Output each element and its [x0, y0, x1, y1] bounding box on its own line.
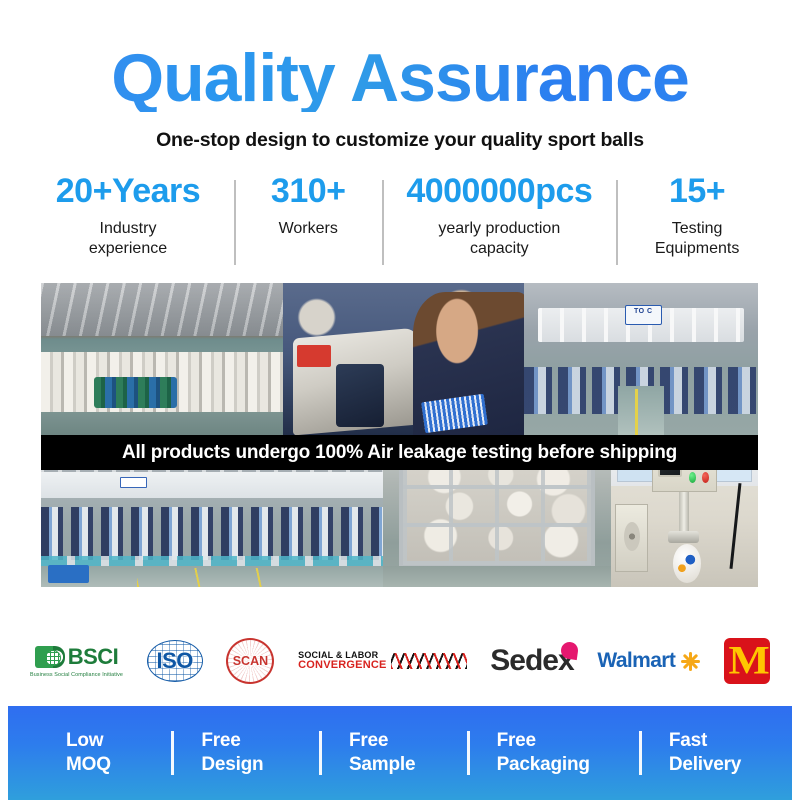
stat-item-years: 20+Years Industryexperience [22, 172, 234, 258]
feature-bar: Low MOQ Free Design Free Sample Free Pac… [8, 706, 792, 800]
stat-number: 4000000pcs [386, 172, 612, 211]
press-plate-art [668, 531, 699, 543]
workshop-sign [120, 477, 147, 487]
stat-item-workers: 310+ Workers [234, 172, 382, 239]
photo-sewing-machine-workers [283, 283, 524, 439]
bsci-tagline: Business Social Compliance Initiative [30, 672, 123, 678]
logo-scan: SCAN [226, 638, 274, 684]
feature-line2: Sample [349, 754, 415, 775]
machine-head-art [336, 364, 384, 426]
logo-iso: ISO [147, 640, 203, 682]
feature-line1: Fast [669, 730, 707, 751]
logo-walmart: Walmart [597, 649, 700, 673]
feature-free-packaging: Free Packaging [475, 729, 647, 778]
page-title: Quality Assurance [0, 0, 800, 112]
bsci-hand-globe-icon [35, 646, 65, 668]
floor-marking-art [137, 568, 274, 587]
stat-label: Industryexperience [26, 219, 230, 258]
feature-line1: Free [349, 730, 388, 751]
sport-ball-art [673, 544, 701, 582]
logo-bsci: BSCI Business Social Compliance Initiati… [30, 644, 123, 678]
feature-line2: MOQ [66, 754, 111, 775]
worker-rows-art [41, 507, 383, 560]
colored-rolls-art [94, 377, 176, 408]
feature-line2: Design [201, 754, 263, 775]
feature-free-design: Free Design [179, 729, 327, 778]
factory-sign-line1: TO C [634, 308, 653, 315]
feature-line1: Free [497, 730, 536, 751]
stat-label: Workers [238, 219, 378, 239]
stat-label: yearly productioncapacity [386, 219, 612, 258]
stat-number: 20+Years [26, 172, 230, 211]
logo-slcp: SOCIAL & LABOR CONVERGENCE [298, 651, 466, 672]
feature-low-moq: Low MOQ [8, 729, 179, 778]
storage-floor-art [383, 566, 611, 587]
scan-wordmark: SCAN [226, 654, 274, 668]
bsci-wordmark: BSCI [68, 644, 119, 670]
warehouse-roof-art [41, 283, 283, 336]
photo-assembly-line-hall: TO C [524, 283, 758, 439]
walmart-spark-icon [680, 651, 700, 671]
feature-line1: Low [66, 730, 103, 751]
mcdonalds-arches-icon: M [728, 645, 766, 677]
back-wall-art [41, 472, 383, 499]
slcp-line2: CONVERGENCE [298, 660, 386, 672]
air-leakage-banner: All products undergo 100% Air leakage te… [41, 435, 758, 470]
stat-item-testing: 15+ TestingEquipments [616, 172, 778, 258]
stat-number: 310+ [238, 172, 378, 211]
feature-line2: Packaging [497, 754, 590, 775]
stats-row: 20+Years Industryexperience 310+ Workers… [0, 172, 800, 258]
gallery-row-top: TO C [41, 283, 758, 439]
logo-sedex: Sedex [490, 644, 573, 678]
red-basket-art [297, 345, 331, 367]
green-indicator-icon [689, 472, 696, 483]
feature-line2: Delivery [669, 754, 741, 775]
factory-photo-gallery: TO C [41, 283, 758, 621]
feature-line1: Free [201, 730, 240, 751]
walmart-wordmark: Walmart [597, 649, 675, 673]
stat-label: TestingEquipments [620, 219, 774, 258]
certification-logos-row: BSCI Business Social Compliance Initiati… [0, 632, 800, 690]
blue-crate-art [48, 565, 89, 583]
stat-item-capacity: 4000000pcs yearly productioncapacity [382, 172, 616, 258]
logo-mcdonalds: M [724, 638, 770, 684]
photo-fabric-roll-warehouse [41, 283, 283, 439]
page-subtitle: One-stop design to customize your qualit… [0, 129, 800, 152]
floor-stripe-art [635, 389, 638, 439]
stat-number: 15+ [620, 172, 774, 211]
aisle-art [618, 386, 665, 439]
iso-wordmark: ISO [147, 648, 203, 674]
feature-fast-delivery: Fast Delivery [647, 729, 792, 778]
factory-sign: TO C [625, 305, 662, 325]
slcp-braid-icon [391, 653, 467, 669]
feature-free-sample: Free Sample [327, 729, 475, 778]
